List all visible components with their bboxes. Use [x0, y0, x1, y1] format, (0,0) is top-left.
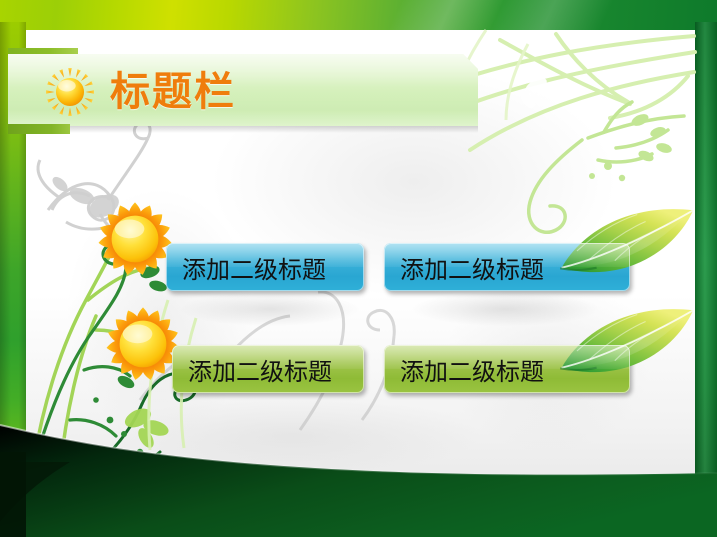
slide-canvas: 标题栏	[0, 0, 717, 537]
page-title: 标题栏	[110, 62, 440, 122]
sun-icon	[96, 200, 174, 278]
heading-button-label: 添加二级标题	[188, 352, 332, 387]
title-accent-tab-bottom	[8, 124, 70, 134]
heading-button-label: 添加二级标题	[182, 250, 326, 285]
title-banner-shadow	[8, 126, 478, 133]
content-shadow-blob-1	[150, 286, 390, 332]
sun-icon	[44, 66, 96, 118]
heading-button-3[interactable]: 添加二级标题	[172, 345, 364, 393]
heading-button-label: 添加二级标题	[400, 352, 544, 387]
sun-icon	[104, 305, 182, 383]
heading-button-1[interactable]: 添加二级标题	[166, 243, 364, 291]
heading-button-label: 添加二级标题	[400, 250, 544, 285]
